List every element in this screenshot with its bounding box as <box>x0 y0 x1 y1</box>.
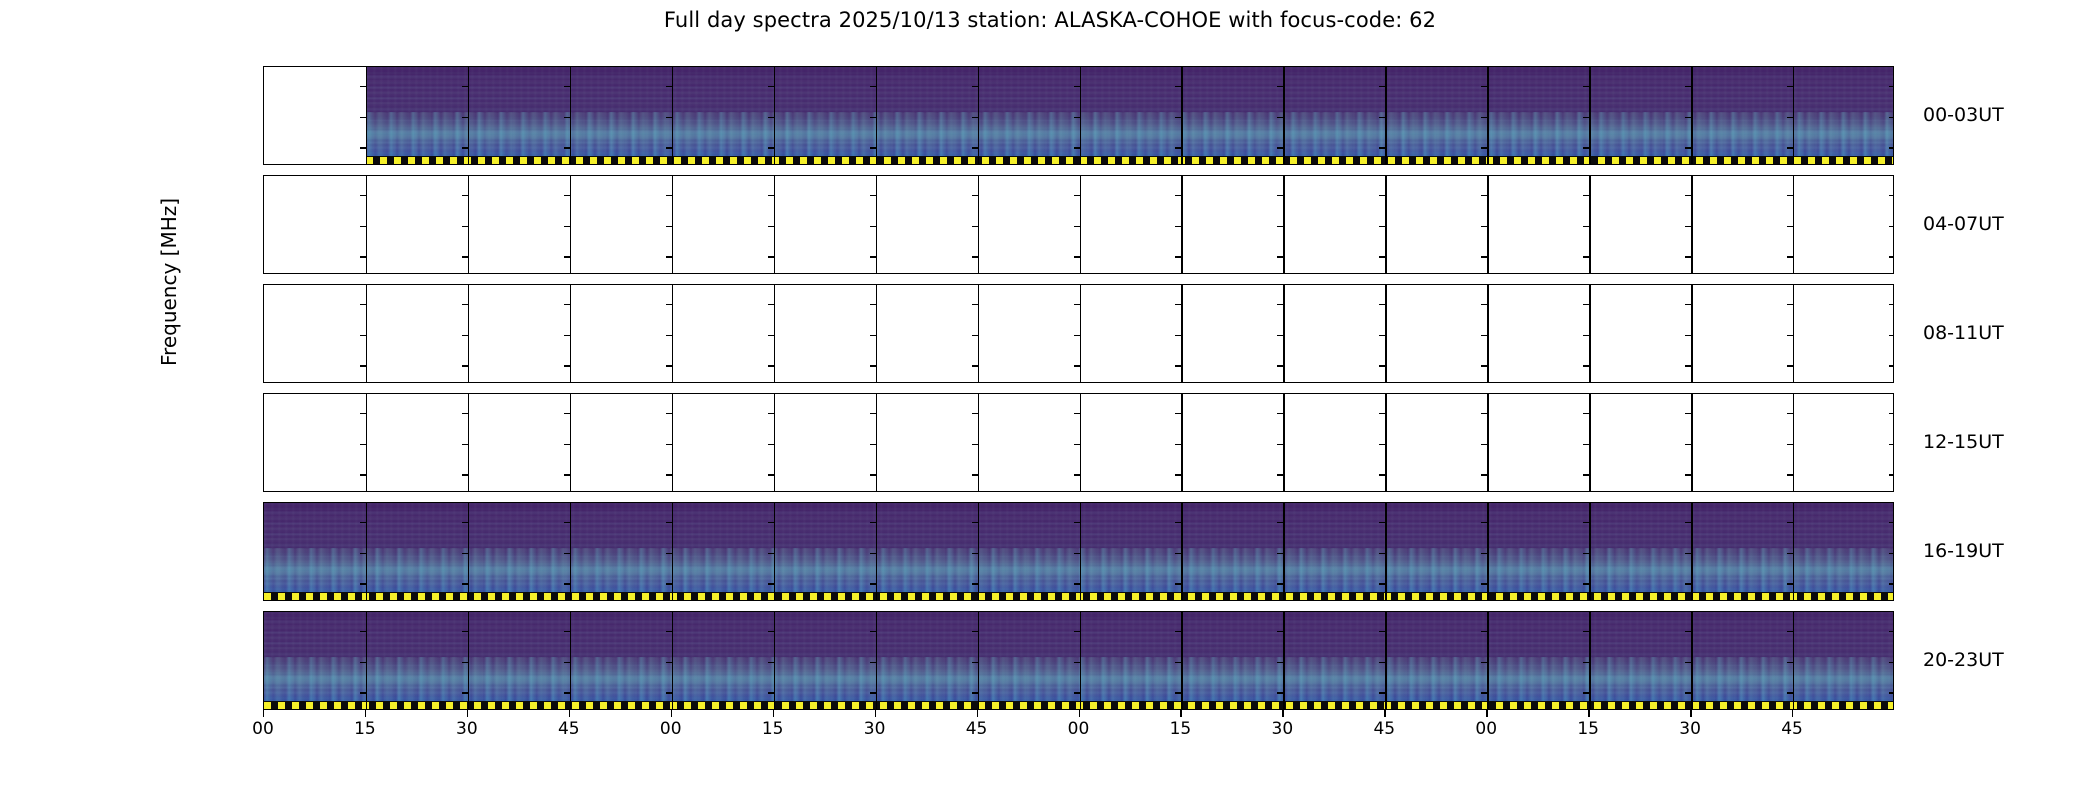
y-tick-minor <box>462 86 468 87</box>
y-tick-minor <box>1889 117 1894 118</box>
y-tick-minor <box>1074 86 1080 87</box>
vertical-gridline <box>1487 285 1488 382</box>
vertical-gridline <box>774 394 775 491</box>
vertical-gridline <box>1589 285 1590 382</box>
y-tick-minor <box>1379 662 1385 663</box>
y-tick-minor <box>1277 444 1283 445</box>
y-tick-minor <box>768 117 774 118</box>
vertical-gridline <box>1181 612 1182 709</box>
y-tick-minor <box>1685 147 1691 148</box>
y-tick-minor <box>462 195 468 196</box>
y-tick-mark <box>263 226 264 227</box>
y-tick-minor <box>1277 583 1283 584</box>
y-tick-minor <box>1889 195 1894 196</box>
y-tick-minor <box>360 256 366 257</box>
y-tick-minor <box>1481 662 1487 663</box>
vertical-gridline <box>876 503 877 600</box>
x-tick-mark <box>1180 710 1181 717</box>
y-tick-minor <box>564 256 570 257</box>
y-tick-minor <box>666 256 672 257</box>
y-tick-minor <box>1175 692 1181 693</box>
y-tick-minor <box>1481 444 1487 445</box>
x-tick-label: 30 <box>444 719 490 739</box>
y-tick-minor <box>360 522 366 523</box>
y-tick-minor <box>1277 662 1283 663</box>
y-tick-minor <box>1379 631 1385 632</box>
vertical-gridline <box>366 285 367 382</box>
y-tick-minor <box>1787 195 1793 196</box>
y-tick-minor <box>1175 304 1181 305</box>
vertical-gridline <box>1793 285 1794 382</box>
spectrogram-image <box>264 503 1893 600</box>
x-tick-mark <box>1282 710 1283 717</box>
vertical-gridline <box>570 67 571 164</box>
vertical-gridline <box>1283 67 1284 164</box>
y-tick-minor <box>666 692 672 693</box>
y-tick-minor <box>1583 662 1589 663</box>
y-tick-minor <box>972 413 978 414</box>
vertical-gridline <box>366 394 367 491</box>
y-tick-minor <box>1685 553 1691 554</box>
y-tick-minor <box>462 522 468 523</box>
vertical-gridline <box>672 67 673 164</box>
y-tick-minor <box>1175 195 1181 196</box>
y-tick-minor <box>360 335 366 336</box>
y-tick-minor <box>1481 335 1487 336</box>
y-tick-minor <box>666 226 672 227</box>
y-tick-minor <box>666 147 672 148</box>
y-tick-minor <box>564 522 570 523</box>
x-tick-mark <box>569 710 570 717</box>
y-tick-minor <box>768 662 774 663</box>
x-tick-mark <box>1079 710 1080 717</box>
y-tick-minor <box>1277 147 1283 148</box>
y-tick-minor <box>870 474 876 475</box>
y-tick-minor <box>1277 86 1283 87</box>
y-tick-minor <box>1175 365 1181 366</box>
vertical-gridline <box>876 67 877 164</box>
y-tick-minor <box>870 692 876 693</box>
y-tick-minor <box>1787 147 1793 148</box>
vertical-gridline <box>1589 176 1590 273</box>
y-tick-minor <box>768 474 774 475</box>
y-tick-minor <box>1787 522 1793 523</box>
y-tick-minor <box>1074 692 1080 693</box>
spectrogram-bands-layer <box>264 548 1893 594</box>
vertical-gridline <box>570 285 571 382</box>
y-tick-minor <box>870 86 876 87</box>
y-tick-minor <box>1583 335 1589 336</box>
y-tick-minor <box>1787 662 1793 663</box>
y-tick-minor <box>1379 583 1385 584</box>
page-title: Full day spectra 2025/10/13 station: ALA… <box>0 8 2100 32</box>
y-tick-minor <box>870 226 876 227</box>
y-tick-minor <box>1481 365 1487 366</box>
y-tick-minor <box>1481 522 1487 523</box>
spectrogram-bands-layer <box>264 657 1893 703</box>
vertical-gridline <box>672 394 673 491</box>
y-tick-minor <box>1074 444 1080 445</box>
y-tick-minor <box>972 256 978 257</box>
x-tick-mark <box>977 710 978 717</box>
y-tick-minor <box>1889 256 1894 257</box>
y-tick-minor <box>360 365 366 366</box>
y-tick-minor <box>564 335 570 336</box>
y-tick-minor <box>1685 662 1691 663</box>
y-tick-mark <box>263 117 264 118</box>
y-tick-minor <box>1685 583 1691 584</box>
y-tick-minor <box>870 304 876 305</box>
y-tick-minor <box>1175 444 1181 445</box>
y-tick-mark <box>263 631 264 632</box>
y-tick-minor <box>1889 444 1894 445</box>
y-tick-minor <box>1074 256 1080 257</box>
y-tick-minor <box>1175 474 1181 475</box>
y-tick-minor <box>1481 226 1487 227</box>
y-tick-minor <box>870 662 876 663</box>
y-tick-minor <box>564 195 570 196</box>
vertical-gridline <box>1181 285 1182 382</box>
y-tick-minor <box>1277 474 1283 475</box>
vertical-gridline <box>1589 503 1590 600</box>
y-tick-minor <box>564 304 570 305</box>
vertical-gridline <box>1793 612 1794 709</box>
y-tick-mark <box>263 365 264 366</box>
vertical-gridline <box>570 176 571 273</box>
y-tick-minor <box>360 413 366 414</box>
no-data-block <box>264 67 366 164</box>
y-tick-mark <box>263 692 264 693</box>
y-tick-minor <box>972 631 978 632</box>
y-tick-minor <box>1889 147 1894 148</box>
y-tick-minor <box>1889 304 1894 305</box>
y-tick-mark <box>263 444 264 445</box>
x-tick-label: 45 <box>1361 719 1407 739</box>
vertical-gridline <box>774 612 775 709</box>
vertical-gridline <box>570 503 571 600</box>
y-tick-minor <box>666 304 672 305</box>
y-tick-minor <box>1277 226 1283 227</box>
vertical-gridline <box>1283 503 1284 600</box>
y-tick-minor <box>462 256 468 257</box>
y-tick-minor <box>972 583 978 584</box>
vertical-gridline <box>1080 612 1081 709</box>
y-tick-minor <box>1787 692 1793 693</box>
y-tick-minor <box>972 692 978 693</box>
y-tick-minor <box>1583 583 1589 584</box>
y-tick-mark <box>263 413 264 414</box>
y-tick-minor <box>768 226 774 227</box>
y-tick-minor <box>768 631 774 632</box>
y-tick-minor <box>1685 522 1691 523</box>
y-tick-minor <box>972 335 978 336</box>
row-label-00-03ut: 00-03UT <box>1923 104 2004 126</box>
y-tick-minor <box>1481 692 1487 693</box>
y-tick-minor <box>1583 522 1589 523</box>
row-label-20-23ut: 20-23UT <box>1923 649 2004 671</box>
y-tick-minor <box>462 226 468 227</box>
y-tick-minor <box>666 662 672 663</box>
y-tick-minor <box>1787 583 1793 584</box>
row-label-16-19ut: 16-19UT <box>1923 540 2004 562</box>
y-tick-minor <box>360 86 366 87</box>
y-tick-minor <box>1787 256 1793 257</box>
y-tick-minor <box>870 335 876 336</box>
vertical-gridline <box>366 67 367 164</box>
y-tick-minor <box>1379 147 1385 148</box>
x-tick-mark <box>1588 710 1589 717</box>
y-tick-minor <box>1277 117 1283 118</box>
y-tick-minor <box>1685 444 1691 445</box>
y-tick-minor <box>462 631 468 632</box>
y-tick-minor <box>360 583 366 584</box>
y-tick-minor <box>1175 553 1181 554</box>
y-tick-minor <box>1277 304 1283 305</box>
y-tick-minor <box>360 444 366 445</box>
y-tick-minor <box>360 304 366 305</box>
y-tick-minor <box>666 413 672 414</box>
y-tick-minor <box>768 256 774 257</box>
vertical-gridline <box>1283 176 1284 273</box>
y-tick-minor <box>360 117 366 118</box>
x-tick-mark <box>467 710 468 717</box>
vertical-gridline <box>1691 67 1692 164</box>
y-tick-minor <box>1277 522 1283 523</box>
y-tick-minor <box>1889 631 1894 632</box>
y-tick-minor <box>768 553 774 554</box>
vertical-gridline <box>1793 394 1794 491</box>
vertical-gridline <box>1691 612 1692 709</box>
x-tick-mark <box>773 710 774 717</box>
y-tick-minor <box>1583 226 1589 227</box>
x-tick-mark <box>1384 710 1385 717</box>
row-label-08-11ut: 08-11UT <box>1923 322 2004 344</box>
vertical-gridline <box>1181 503 1182 600</box>
y-tick-minor <box>1379 474 1385 475</box>
vertical-gridline <box>876 612 877 709</box>
panel-row-16-19ut: 755025 <box>263 502 1894 601</box>
vertical-gridline <box>1283 285 1284 382</box>
y-tick-minor <box>1889 662 1894 663</box>
vertical-gridline <box>1385 394 1386 491</box>
y-tick-minor <box>1685 256 1691 257</box>
y-tick-minor <box>768 304 774 305</box>
y-tick-minor <box>1787 304 1793 305</box>
y-tick-minor <box>1787 631 1793 632</box>
panel-row-20-23ut: 755025 <box>263 611 1894 710</box>
y-tick-minor <box>1175 226 1181 227</box>
y-tick-minor <box>1889 226 1894 227</box>
y-tick-minor <box>1175 413 1181 414</box>
y-tick-minor <box>870 117 876 118</box>
y-tick-minor <box>1583 86 1589 87</box>
y-tick-minor <box>360 147 366 148</box>
vertical-gridline <box>1385 612 1386 709</box>
vertical-gridline <box>468 176 469 273</box>
y-tick-mark <box>263 256 264 257</box>
y-tick-minor <box>360 631 366 632</box>
vertical-gridline <box>1181 176 1182 273</box>
vertical-gridline <box>1691 285 1692 382</box>
row-label-12-15ut: 12-15UT <box>1923 431 2004 453</box>
y-tick-minor <box>1074 662 1080 663</box>
y-tick-minor <box>1481 413 1487 414</box>
y-tick-minor <box>564 631 570 632</box>
burst-marker-strip <box>264 701 1893 709</box>
y-tick-minor <box>870 583 876 584</box>
y-tick-minor <box>1583 692 1589 693</box>
y-tick-minor <box>1379 365 1385 366</box>
y-tick-minor <box>870 631 876 632</box>
y-tick-mark <box>263 335 264 336</box>
y-tick-minor <box>1889 365 1894 366</box>
y-tick-minor <box>666 195 672 196</box>
vertical-gridline <box>1793 67 1794 164</box>
y-tick-minor <box>768 522 774 523</box>
vertical-gridline <box>978 612 979 709</box>
y-tick-minor <box>1583 147 1589 148</box>
y-tick-minor <box>1379 304 1385 305</box>
y-tick-minor <box>1175 147 1181 148</box>
y-tick-minor <box>1175 583 1181 584</box>
y-tick-minor <box>462 413 468 414</box>
y-tick-minor <box>870 413 876 414</box>
vertical-gridline <box>468 285 469 382</box>
y-tick-minor <box>564 86 570 87</box>
vertical-gridline <box>1691 503 1692 600</box>
y-tick-minor <box>1074 226 1080 227</box>
y-tick-minor <box>462 444 468 445</box>
vertical-gridline <box>876 176 877 273</box>
y-tick-minor <box>1481 583 1487 584</box>
y-tick-minor <box>666 583 672 584</box>
y-tick-minor <box>1379 413 1385 414</box>
vertical-gridline <box>978 394 979 491</box>
y-tick-minor <box>666 117 672 118</box>
y-tick-minor <box>666 365 672 366</box>
vertical-gridline <box>1487 394 1488 491</box>
y-tick-minor <box>870 195 876 196</box>
vertical-gridline <box>876 285 877 382</box>
y-tick-mark <box>263 474 264 475</box>
y-tick-minor <box>1379 522 1385 523</box>
y-tick-minor <box>462 117 468 118</box>
y-tick-minor <box>360 662 366 663</box>
vertical-gridline <box>978 176 979 273</box>
y-tick-mark <box>263 662 264 663</box>
vertical-gridline <box>672 176 673 273</box>
y-tick-minor <box>1583 117 1589 118</box>
y-tick-minor <box>870 522 876 523</box>
y-tick-minor <box>1583 631 1589 632</box>
y-tick-minor <box>1175 631 1181 632</box>
y-tick-minor <box>768 86 774 87</box>
panel-row-04-07ut: 755025 <box>263 175 1894 274</box>
y-tick-minor <box>1787 226 1793 227</box>
y-tick-minor <box>1379 86 1385 87</box>
y-tick-minor <box>1379 553 1385 554</box>
y-tick-minor <box>1277 631 1283 632</box>
y-tick-minor <box>1481 256 1487 257</box>
x-tick-mark <box>1486 710 1487 717</box>
y-tick-minor <box>1175 117 1181 118</box>
y-tick-minor <box>564 474 570 475</box>
y-tick-minor <box>1074 553 1080 554</box>
y-tick-minor <box>1787 86 1793 87</box>
y-tick-minor <box>870 444 876 445</box>
panel-row-12-15ut: 755025 <box>263 393 1894 492</box>
y-tick-minor <box>1481 474 1487 475</box>
vertical-gridline <box>1793 503 1794 600</box>
vertical-gridline <box>1589 394 1590 491</box>
y-tick-minor <box>462 692 468 693</box>
y-tick-minor <box>564 662 570 663</box>
y-tick-minor <box>1889 413 1894 414</box>
y-tick-minor <box>360 226 366 227</box>
x-tick-mark <box>263 710 264 717</box>
y-tick-minor <box>462 335 468 336</box>
y-tick-minor <box>1787 413 1793 414</box>
y-tick-minor <box>870 553 876 554</box>
y-tick-minor <box>1583 195 1589 196</box>
vertical-gridline <box>774 176 775 273</box>
y-tick-minor <box>1379 692 1385 693</box>
y-tick-minor <box>1685 86 1691 87</box>
y-tick-minor <box>1583 304 1589 305</box>
y-tick-minor <box>1481 195 1487 196</box>
panel-row-00-03ut: 755025 <box>263 66 1894 165</box>
y-tick-mark <box>263 147 264 148</box>
vertical-gridline <box>1080 285 1081 382</box>
y-tick-minor <box>972 553 978 554</box>
spectrogram-image <box>366 67 1893 164</box>
x-tick-label: 00 <box>1463 719 1509 739</box>
vertical-gridline <box>978 285 979 382</box>
vertical-gridline <box>1283 394 1284 491</box>
y-tick-minor <box>564 147 570 148</box>
y-tick-minor <box>666 335 672 336</box>
x-tick-label: 45 <box>1769 719 1815 739</box>
vertical-gridline <box>774 503 775 600</box>
y-tick-minor <box>564 444 570 445</box>
y-tick-minor <box>870 365 876 366</box>
vertical-gridline <box>366 612 367 709</box>
y-tick-minor <box>1889 583 1894 584</box>
y-tick-minor <box>1685 226 1691 227</box>
y-tick-minor <box>564 553 570 554</box>
vertical-gridline <box>366 176 367 273</box>
row-label-04-07ut: 04-07UT <box>1923 213 2004 235</box>
y-tick-minor <box>1685 335 1691 336</box>
y-tick-minor <box>1074 583 1080 584</box>
vertical-gridline <box>774 67 775 164</box>
y-tick-mark <box>263 583 264 584</box>
y-tick-minor <box>972 117 978 118</box>
vertical-gridline <box>570 394 571 491</box>
y-tick-minor <box>972 304 978 305</box>
y-tick-minor <box>972 522 978 523</box>
y-tick-minor <box>1889 692 1894 693</box>
y-tick-minor <box>1889 474 1894 475</box>
vertical-gridline <box>1283 612 1284 709</box>
y-tick-minor <box>360 195 366 196</box>
y-tick-minor <box>1787 365 1793 366</box>
y-tick-minor <box>1175 335 1181 336</box>
y-tick-minor <box>666 444 672 445</box>
y-tick-minor <box>768 195 774 196</box>
vertical-gridline <box>1589 67 1590 164</box>
x-tick-label: 15 <box>1157 719 1203 739</box>
